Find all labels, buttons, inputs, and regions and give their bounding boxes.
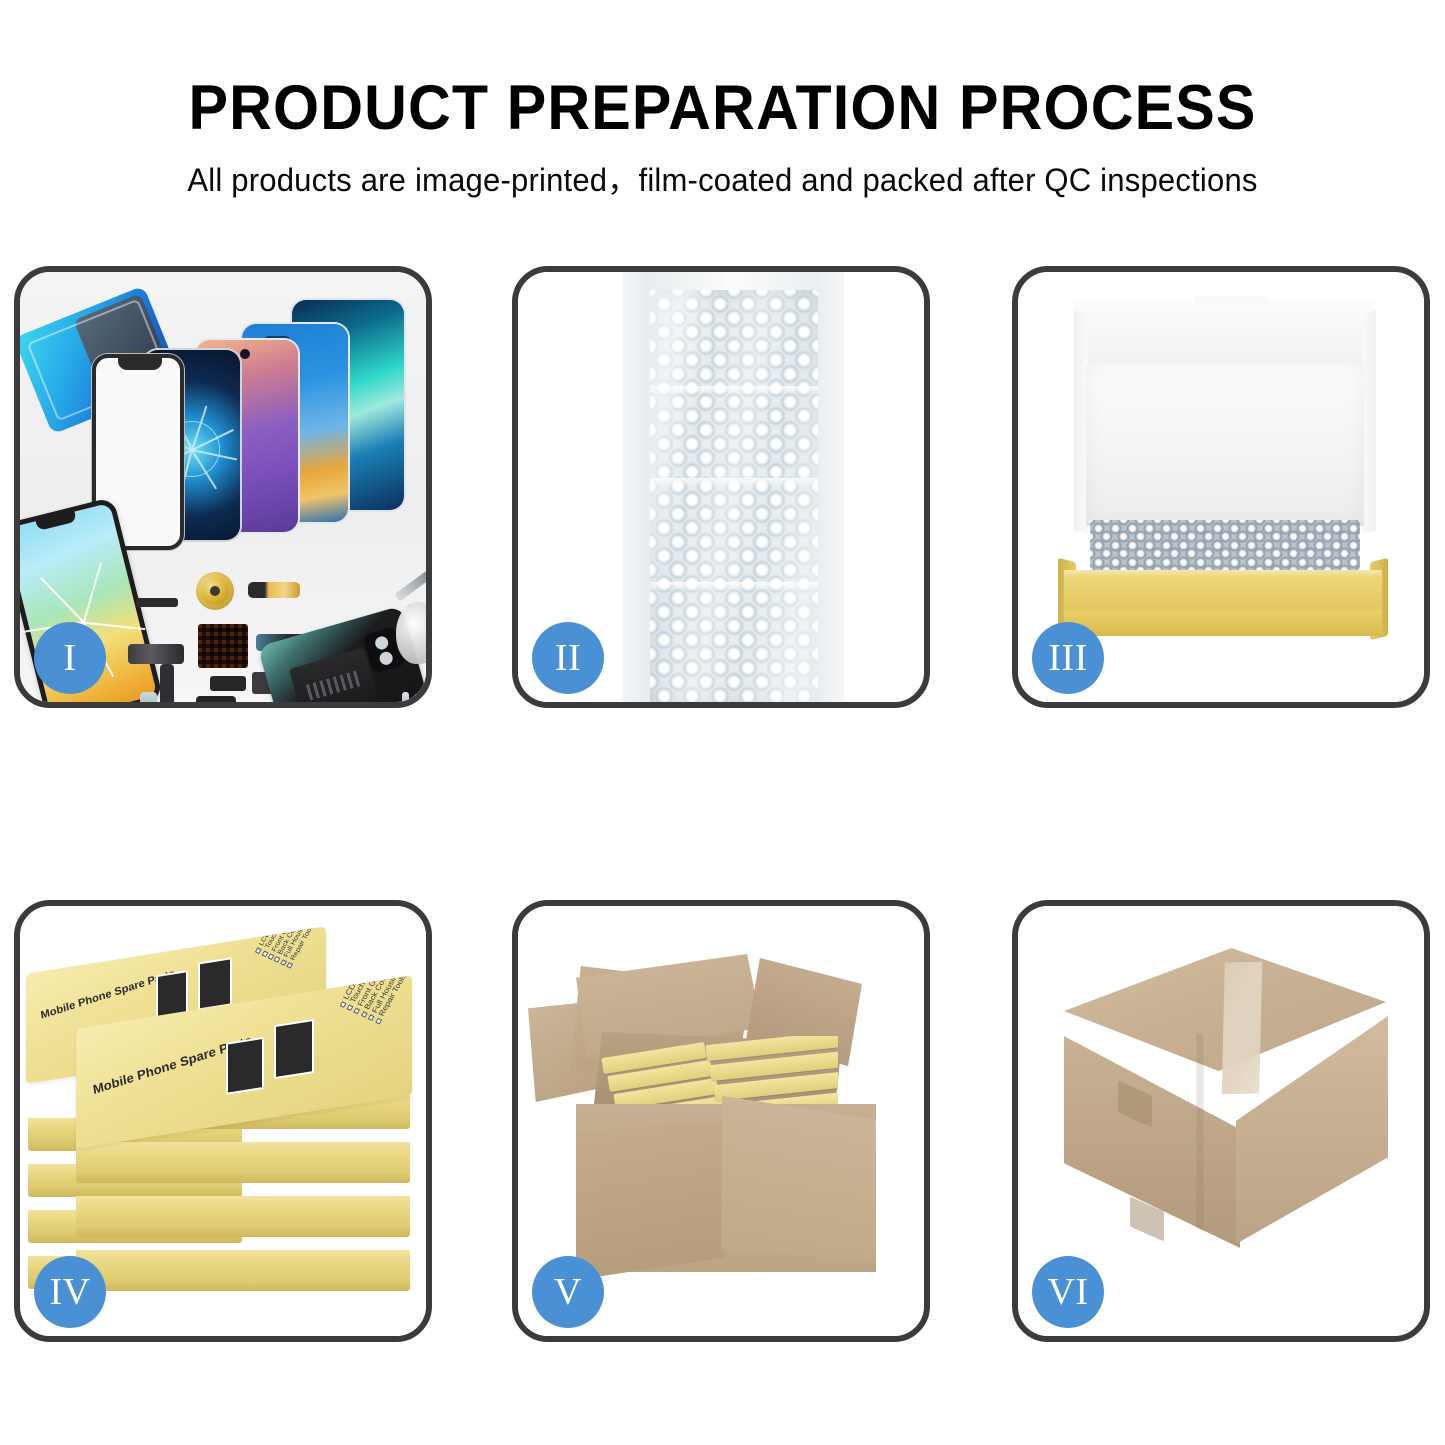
screen-image-right-front	[274, 1019, 314, 1079]
process-step-panel-3: III	[1012, 266, 1430, 708]
retail-box	[76, 1250, 410, 1280]
process-step-panel-4: Mobile Phone Spare Parts LCD Digitizer T…	[14, 900, 432, 1342]
bubble-wrap-bag	[622, 272, 844, 702]
plastic-sheen	[650, 290, 818, 702]
vibrator-module-part	[210, 676, 246, 691]
product-preparation-process-page: PRODUCT PREPARATION PROCESS All products…	[0, 0, 1445, 1445]
process-step-grid: I II	[0, 0, 1445, 1445]
battery-part	[289, 648, 379, 702]
step-badge-2: II	[532, 622, 604, 694]
sealed-carton	[1034, 936, 1420, 1286]
volume-flex-cable-part	[128, 644, 184, 664]
power-flex-cable-part	[248, 582, 300, 598]
screws-set-icon	[402, 692, 426, 702]
process-step-panel-2: II	[512, 266, 930, 708]
loudspeaker-part	[196, 696, 236, 702]
earpiece-speaker-part	[136, 598, 178, 607]
step-badge-6: VI	[1032, 1256, 1104, 1328]
inner-box-front-panel	[1064, 610, 1382, 636]
charging-flex-part	[160, 664, 174, 702]
retail-box	[76, 1196, 410, 1226]
logic-board-chip-part	[198, 624, 248, 668]
step-badge-1: I	[34, 622, 106, 694]
step-badge-4: IV	[34, 1256, 106, 1328]
inner-box-right-wall	[1362, 311, 1376, 533]
retail-box-checklist-back: LCD Digitizer Touch Panel Front Glass Ba…	[254, 926, 317, 969]
inner-box-back-wall	[1086, 364, 1364, 526]
taptic-coil-part	[196, 572, 234, 610]
step-badge-5: V	[532, 1256, 604, 1328]
carton-right-face	[722, 1096, 876, 1262]
retail-box-checklist-front: LCD Digitizer Touch Panel Front Glass Ba…	[338, 975, 410, 1025]
process-step-panel-1: I	[14, 266, 432, 708]
step-badge-3: III	[1032, 622, 1104, 694]
crack-pattern-icon	[192, 449, 194, 451]
bubble-pattern-icon	[1090, 520, 1360, 574]
bubble-wrap-body	[650, 290, 818, 702]
screen-image-left-front	[226, 1037, 264, 1095]
process-step-panel-6: VI	[1012, 900, 1430, 1342]
bubble-wrapped-product-in-box	[1090, 520, 1360, 574]
process-step-panel-5: V	[512, 900, 930, 1342]
retail-box	[76, 1142, 410, 1172]
carton-front-face	[576, 1120, 724, 1280]
inner-box-lid	[1074, 300, 1374, 366]
sim-tray-part	[140, 692, 157, 702]
